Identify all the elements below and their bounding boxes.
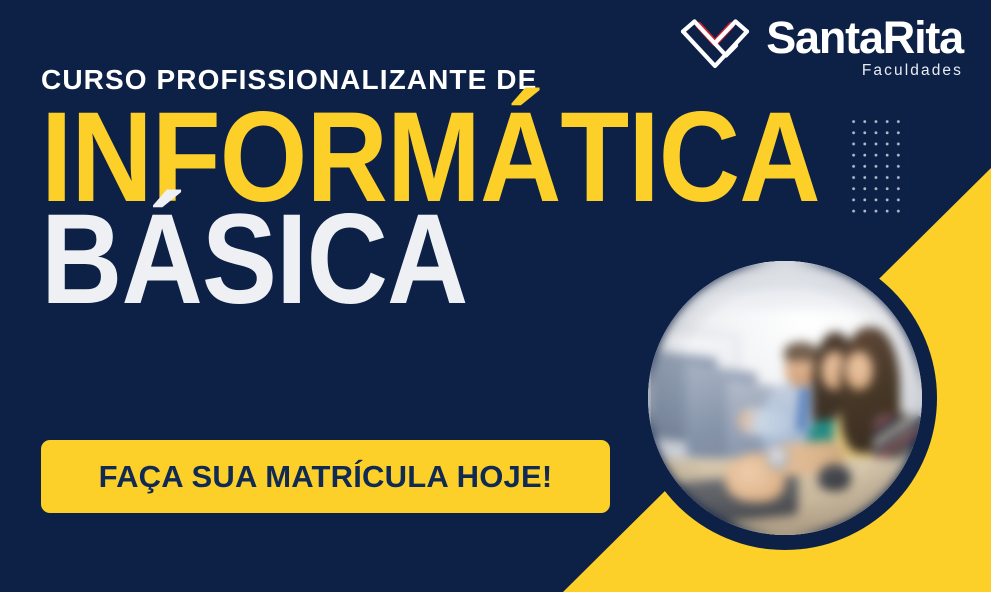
logo-subtitle: Faculdades — [862, 62, 963, 80]
headline-block: CURSO PROFISSIONALIZANTE DE INFORMÁTICA … — [41, 66, 741, 313]
promo-banner: SantaRita Faculdades CURSO PROFISSIONALI… — [0, 0, 991, 592]
headline-line-2: BÁSICA — [41, 206, 657, 314]
logo-wordmark: SantaRita — [766, 16, 963, 60]
logo-text-block: SantaRita Faculdades — [766, 16, 963, 80]
enroll-cta-button[interactable]: FAÇA SUA MATRÍCULA HOJE! — [41, 440, 610, 513]
dot-grid-decoration — [848, 116, 908, 220]
